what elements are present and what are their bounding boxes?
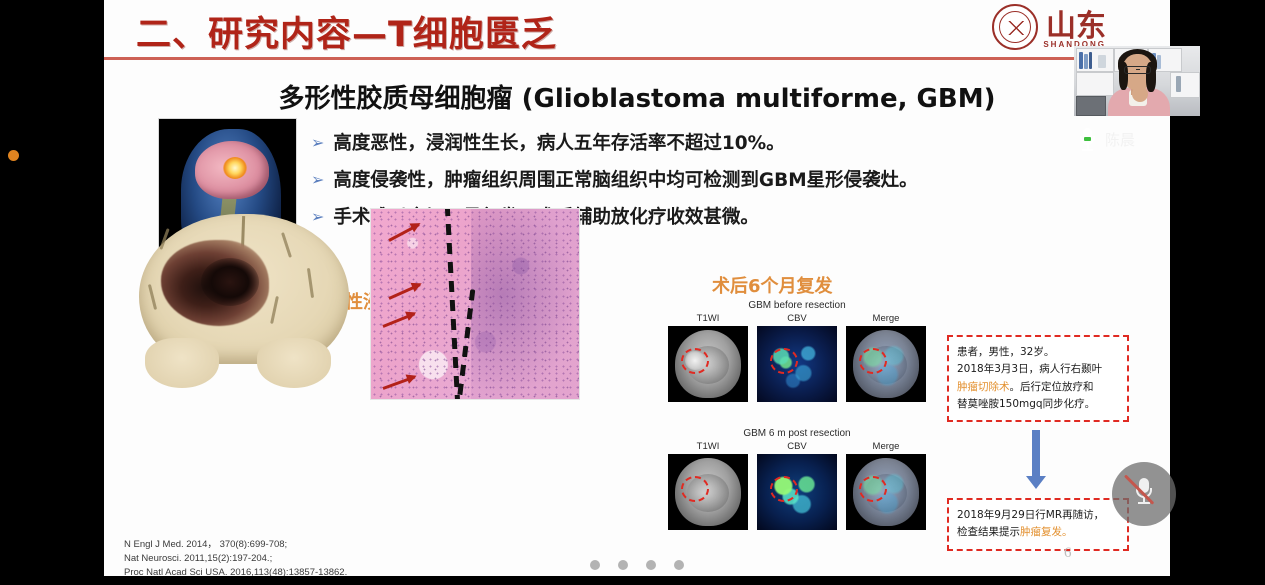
info-line: 检查结果提示肿瘤复发。 <box>957 524 1119 541</box>
page-title: 多形性胶质母细胞瘤 (Glioblastoma multiforme, GBM) <box>104 78 1170 115</box>
citation-line: N Engl J Med. 2014， 370(8):699-708; <box>124 538 347 552</box>
mri-panel-label: Merge <box>846 313 926 324</box>
participant-name: 陈晨 <box>1105 129 1135 150</box>
page-number: 6 <box>1064 545 1072 562</box>
lesion-circle-marker <box>770 348 798 374</box>
pathology-brain-section-image <box>133 210 356 394</box>
info-line: 替莫唑胺150mgq同步化疗。 <box>957 396 1119 413</box>
mri-group-label: GBM before resection <box>662 300 932 311</box>
nav-dot[interactable] <box>646 560 656 570</box>
lesion-circle-marker <box>859 348 887 374</box>
screen-root: 二、研究内容—T细胞匮乏 山东 SHANDONG 多形性胶质母细胞瘤 (Glio… <box>0 0 1265 585</box>
mri-thumbnail <box>757 326 837 402</box>
info-line-rest: 检查结果提示 <box>957 526 1020 538</box>
mri-panel-label: CBV <box>757 313 837 324</box>
slide-nav-dots[interactable] <box>104 560 1170 570</box>
mri-panel-label: T1WI <box>668 313 748 324</box>
info-line: 2018年3月3日，病人行右颞叶 <box>957 361 1119 378</box>
list-item-label: 高度侵袭性，肿瘤组织周围正常脑组织中均可检测到GBM星形侵袭灶。 <box>333 169 917 192</box>
mri-thumbnail <box>846 454 926 530</box>
participant-video-tile[interactable] <box>1074 46 1200 116</box>
mri-panel-before-resection: GBM before resection T1WI CBV <box>662 300 932 402</box>
presentation-slide: 二、研究内容—T细胞匮乏 山东 SHANDONG 多形性胶质母细胞瘤 (Glio… <box>104 0 1170 576</box>
mri-thumbnail <box>846 326 926 402</box>
lesion-circle-marker <box>770 476 798 502</box>
flow-arrow-icon <box>1032 430 1040 478</box>
highlight-text: 肿瘤复发。 <box>1020 526 1073 538</box>
mri-cell-merge: Merge <box>846 441 926 530</box>
mri-panel-label: Merge <box>846 441 926 452</box>
list-item: ➢ 高度恶性，浸润性生长，病人五年存活率不超过10%。 <box>311 132 1051 155</box>
mri-thumbnail <box>668 454 748 530</box>
nav-dot[interactable] <box>618 560 628 570</box>
speaking-indicator-dot <box>8 150 19 161</box>
bullet-arrow-icon: ➢ <box>311 132 324 154</box>
citation-list: N Engl J Med. 2014， 370(8):699-708; Nat … <box>124 538 347 576</box>
mri-cell-t1wi: T1WI <box>668 313 748 402</box>
he-stain-image <box>370 208 580 400</box>
mri-cell-cbv: CBV <box>757 313 837 402</box>
lesion-circle-marker <box>681 476 709 502</box>
nav-dot[interactable] <box>674 560 684 570</box>
mri-cell-merge: Merge <box>846 313 926 402</box>
nav-dot[interactable] <box>590 560 600 570</box>
list-item-label: 高度恶性，浸润性生长，病人五年存活率不超过10%。 <box>333 132 784 155</box>
mute-toggle-button[interactable] <box>1112 462 1176 526</box>
highlight-text: 肿瘤切除术 <box>957 381 1010 393</box>
lesion-circle-marker <box>859 476 887 502</box>
university-seal-icon <box>992 4 1038 50</box>
mri-panel-post-resection: GBM 6 m post resection T1WI CBV <box>662 428 932 530</box>
mri-panel-label: CBV <box>757 441 837 452</box>
tumor-glow-marker <box>223 157 247 179</box>
list-item: ➢ 高度侵袭性，肿瘤组织周围正常脑组织中均可检测到GBM星形侵袭灶。 <box>311 169 1051 192</box>
mri-panel-label: T1WI <box>668 441 748 452</box>
university-logo-cn: 山东 <box>1046 12 1106 42</box>
microphone-icon <box>1080 128 1095 150</box>
info-line: 患者，男性，32岁。 <box>957 344 1119 361</box>
mri-cell-cbv: CBV <box>757 441 837 530</box>
info-line-rest: 。后行定位放疗和 <box>1010 381 1094 393</box>
patient-history-box: 患者，男性，32岁。 2018年3月3日，病人行右颞叶 肿瘤切除术。后行定位放疗… <box>947 335 1129 422</box>
info-line: 肿瘤切除术。后行定位放疗和 <box>957 379 1119 396</box>
mri-group-label: GBM 6 m post resection <box>662 428 932 439</box>
caption-recurrence: 术后6个月复发 <box>712 272 833 298</box>
mri-thumbnail <box>757 454 837 530</box>
glasses-icon <box>1124 66 1151 74</box>
title-divider <box>104 57 1170 60</box>
slide-section-title: 二、研究内容—T细胞匮乏 <box>136 6 557 57</box>
bullet-arrow-icon: ➢ <box>311 169 324 191</box>
participant-name-row: 陈晨 <box>1080 128 1135 150</box>
follow-up-result-box: 2018年9月29日行MR再随访， 检查结果提示肿瘤复发。 <box>947 498 1129 551</box>
mri-cell-t1wi: T1WI <box>668 441 748 530</box>
lesion-circle-marker <box>681 348 709 374</box>
mri-thumbnail <box>668 326 748 402</box>
info-line: 2018年9月29日行MR再随访， <box>957 507 1119 524</box>
